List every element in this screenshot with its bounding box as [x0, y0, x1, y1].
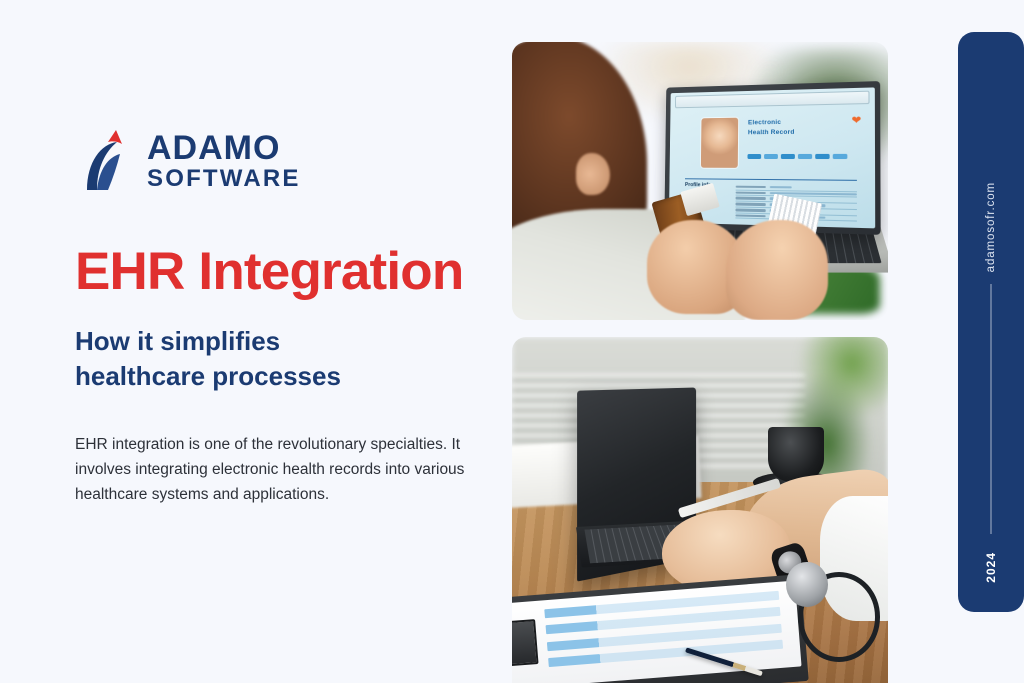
field-value [770, 186, 792, 189]
ehr-title-line-1: Electronic [748, 119, 781, 126]
ehr-nav-button [764, 153, 778, 158]
page-title: EHR Integration [75, 244, 485, 300]
right-hand [726, 220, 828, 320]
year-label: 2024 [984, 552, 998, 583]
side-panel: adamosofr.com 2024 [958, 32, 1024, 612]
heart-icon: ❤ [851, 115, 861, 126]
content-column: ADAMO SOFTWARE EHR Integration How it si… [75, 130, 485, 507]
ehr-nav-button [747, 153, 761, 158]
vertical-divider [991, 284, 992, 534]
brand-wordmark: ADAMO SOFTWARE [147, 131, 301, 192]
brand-name-primary: ADAMO [147, 131, 301, 166]
person-ear [576, 153, 610, 195]
subtitle-line-2: healthcare processes [75, 361, 341, 391]
ehr-title-line-2: Health Record [748, 128, 795, 135]
ehr-app-title: Electronic Health Record [748, 117, 857, 138]
browser-address-bar [674, 90, 869, 108]
form-field-rows [544, 591, 783, 678]
photo-card-ehr-laptop: Electronic Health Record ❤ Profile info [512, 42, 888, 320]
ehr-nav-button [833, 153, 848, 158]
photo-card-desk-typing [512, 337, 888, 683]
photo-top-scene: Electronic Health Record ❤ Profile info [512, 42, 888, 320]
field-key [735, 197, 765, 200]
section-divider [685, 178, 857, 181]
patient-photo [700, 117, 738, 168]
brand-name-secondary: SOFTWARE [147, 166, 301, 191]
field-key [735, 202, 765, 205]
field-key [735, 208, 765, 211]
field-key [735, 191, 765, 194]
website-url[interactable]: adamosofr.com [985, 182, 997, 272]
ehr-nav-button [798, 153, 812, 158]
coffee-cup [768, 427, 824, 482]
slide-canvas: ADAMO SOFTWARE EHR Integration How it si… [0, 0, 1024, 683]
brand-logo[interactable]: ADAMO SOFTWARE [75, 130, 485, 192]
field-key [735, 185, 765, 188]
subtitle-line-1: How it simplifies [75, 326, 280, 356]
clipboard-clip [512, 619, 539, 667]
photo-bottom-scene [512, 337, 888, 683]
medical-form [512, 581, 802, 683]
page-subtitle: How it simplifies healthcare processes [75, 324, 405, 394]
field-key [735, 214, 765, 217]
adamo-swoosh-icon [75, 130, 133, 192]
body-paragraph: EHR integration is one of the revolution… [75, 432, 465, 507]
ehr-nav-button [815, 153, 829, 158]
ehr-button-row [747, 153, 863, 158]
ehr-nav-button [781, 153, 795, 158]
stethoscope-chestpiece [786, 562, 827, 607]
